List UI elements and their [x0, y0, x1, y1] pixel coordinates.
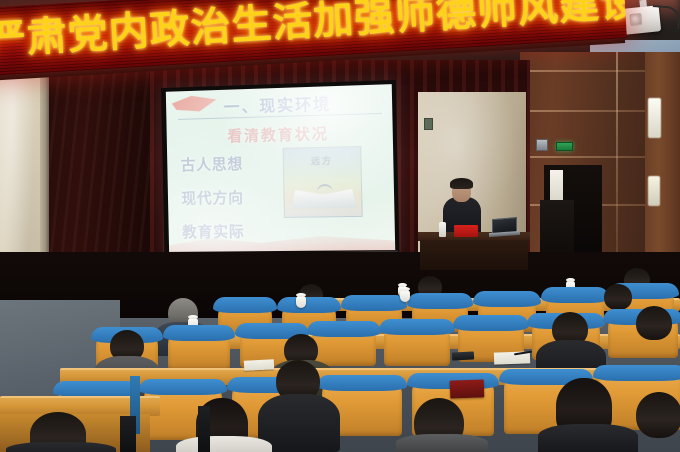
desk-leg-base: [198, 406, 210, 452]
exit-sign: [556, 142, 573, 151]
slide-bullet-list: 古人思想 现代方向 教育实际: [181, 152, 277, 252]
projector-lens-icon: [629, 13, 642, 26]
projection-screen: 一、现实环境 看清教育状况 古人思想 现代方向 教育实际 远方: [166, 84, 395, 252]
wall-socket: [424, 118, 433, 130]
slide-bullet-2: 现代方向: [181, 186, 276, 208]
auditorium-seat[interactable]: [312, 324, 376, 366]
bird-icon: [316, 184, 333, 193]
paper-sheet: [244, 359, 274, 371]
side-cabinet: [540, 200, 574, 260]
slide-bullet-1: 古人思想: [181, 152, 275, 175]
attendee-shoulders: [176, 436, 272, 452]
teacup: [296, 296, 306, 308]
slide-bullet-3: 教育实际: [182, 220, 277, 242]
wall-light-strip: [648, 98, 661, 138]
attendee-shoulders: [6, 442, 116, 452]
projection-screen-frame: 一、现实环境 看清教育状况 古人思想 现代方向 教育实际 远方: [161, 80, 400, 257]
lecture-hall-photo: 严肃党内政治生活加强师德师风建设专题讲座 一、现实环境 看清教育状况 古人思想 …: [0, 0, 680, 452]
speaker-hair: [450, 178, 473, 189]
slide-inset-caption: 远方: [284, 153, 361, 168]
podium-table-front: [420, 240, 528, 270]
wall-control-box: [536, 139, 548, 151]
auditorium-seat[interactable]: [384, 322, 450, 366]
attendee-head: [636, 392, 680, 438]
water-bottle: [439, 222, 446, 237]
slide-inset-image: 远方: [283, 146, 363, 218]
red-box-on-table: [454, 225, 478, 237]
attendee-head: [636, 306, 672, 340]
phone: [452, 351, 474, 360]
slide-subtitle: 看清教育状况: [167, 121, 393, 148]
attendee-head: [604, 284, 632, 310]
attendee-shoulders: [396, 434, 488, 452]
attendee-shoulders: [538, 424, 638, 452]
red-notebook: [450, 379, 485, 398]
auditorium-seat[interactable]: [168, 328, 230, 370]
teacup: [400, 290, 410, 302]
desk-leg-base: [120, 416, 136, 452]
wall-light-strip-lower: [648, 176, 660, 206]
